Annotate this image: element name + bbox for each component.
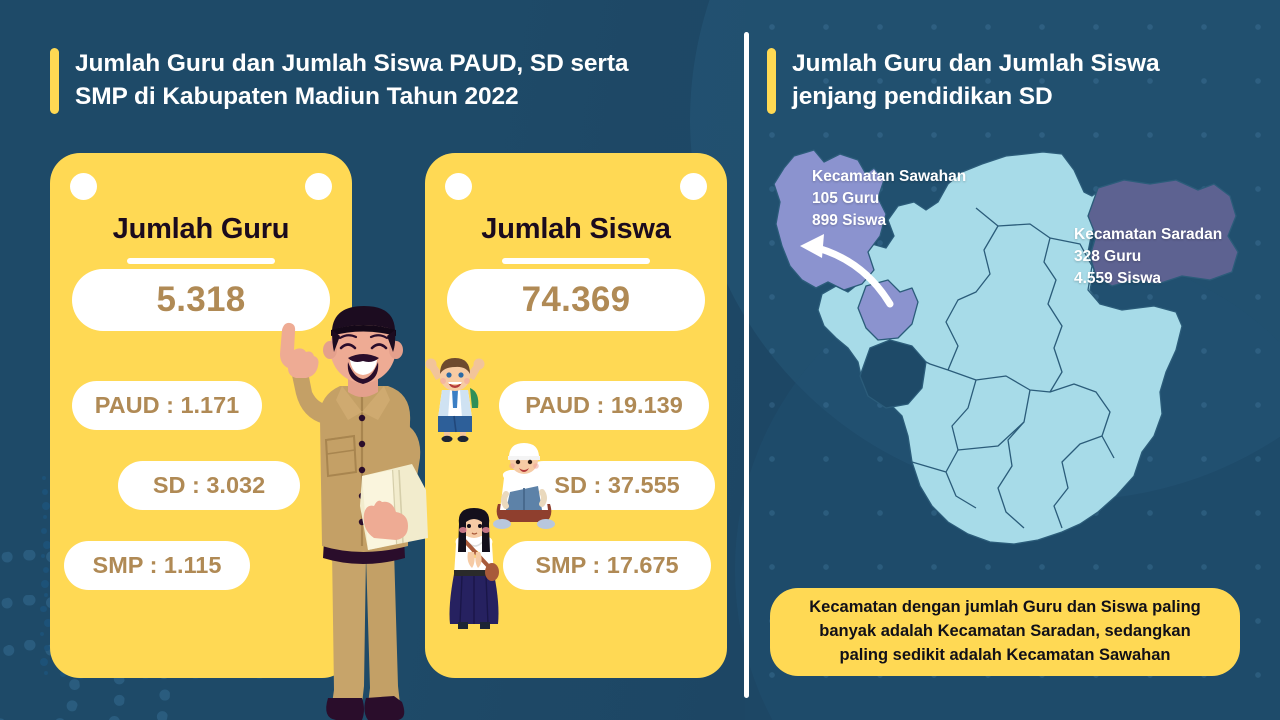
guru-paud-value: PAUD : 1.171 [72, 381, 262, 430]
map-label-saradan: Kecamatan Saradan 328 Guru 4.559 Siswa [1074, 224, 1222, 290]
card-underline-guru [127, 258, 275, 264]
map-label-sawahan: Kecamatan Sawahan 105 Guru 899 Siswa [812, 166, 966, 232]
siswa-total-value: 74.369 [447, 269, 705, 331]
punch-hole-left-icon [70, 173, 97, 200]
card-underline-siswa [502, 258, 650, 264]
accent-bar-left [50, 48, 59, 114]
student-boy-illustration [424, 356, 486, 442]
punch-hole-right-icon [680, 173, 707, 200]
page-title-right: Jumlah Guru dan Jumlah Siswa jenjang pen… [792, 48, 1160, 113]
left-section-header: Jumlah Guru dan Jumlah Siswa PAUD, SD se… [50, 48, 730, 114]
card-title-siswa: Jumlah Siswa [425, 213, 727, 246]
map-kabupaten-madiun: Kecamatan Sawahan 105 Guru 899 Siswa Kec… [762, 140, 1262, 572]
card-title-guru: Jumlah Guru [50, 213, 352, 246]
siswa-paud-value: PAUD : 19.139 [499, 381, 709, 430]
summary-note-text: Kecamatan dengan jumlah Guru dan Siswa p… [809, 596, 1201, 668]
infographic-canvas: Jumlah Guru dan Jumlah Siswa PAUD, SD se… [0, 0, 1280, 720]
punch-hole-left-icon [445, 173, 472, 200]
punch-hole-right-icon [305, 173, 332, 200]
guru-smp-value: SMP : 1.115 [64, 541, 250, 590]
section-divider [744, 32, 749, 698]
page-title-left: Jumlah Guru dan Jumlah Siswa PAUD, SD se… [75, 48, 628, 113]
student-girl-illustration [444, 506, 504, 632]
accent-bar-right [767, 48, 776, 114]
summary-note-box: Kecamatan dengan jumlah Guru dan Siswa p… [770, 588, 1240, 676]
siswa-smp-value: SMP : 17.675 [503, 541, 711, 590]
right-section-header: Jumlah Guru dan Jumlah Siswa jenjang pen… [767, 48, 1237, 114]
